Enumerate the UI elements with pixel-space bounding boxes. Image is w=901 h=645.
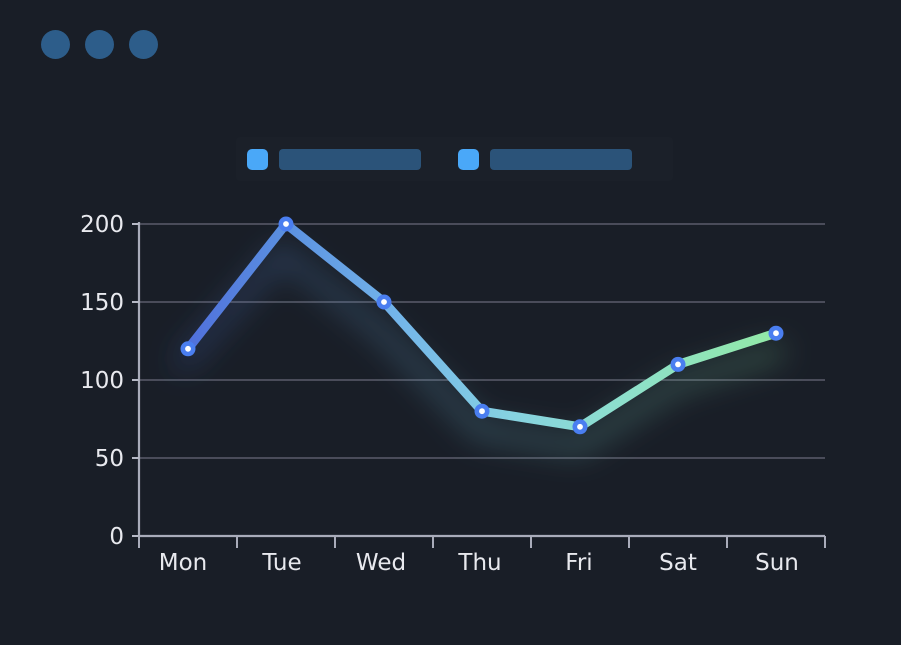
series-line-group <box>181 217 784 435</box>
y-axis-labels: 200 150 100 50 0 <box>80 212 124 550</box>
y-tick-label-100: 100 <box>80 368 124 394</box>
x-tick-label-mon: Mon <box>159 550 208 576</box>
line-chart: 200 150 100 50 0 Mon Tue Wed Thu Fri Sat… <box>0 0 901 645</box>
data-point-marker-center <box>381 299 387 305</box>
data-point-marker-center <box>185 346 191 352</box>
chart-axes <box>139 222 825 536</box>
x-tick-label-tue: Tue <box>261 550 301 576</box>
x-axis-labels: Mon Tue Wed Thu Fri Sat Sun <box>159 550 799 576</box>
y-tick-label-50: 50 <box>95 446 124 472</box>
x-tick-label-sat: Sat <box>659 550 697 576</box>
x-tick-label-sun: Sun <box>755 550 799 576</box>
app-window: 200 150 100 50 0 Mon Tue Wed Thu Fri Sat… <box>0 0 901 645</box>
x-tick-label-wed: Wed <box>356 550 406 576</box>
data-point-marker-center <box>283 221 289 227</box>
data-point-marker-center <box>577 424 583 430</box>
x-axis-ticks <box>139 536 825 548</box>
data-point-marker-center <box>675 362 681 368</box>
x-tick-label-fri: Fri <box>565 550 592 576</box>
data-point-marker-center <box>479 408 485 414</box>
x-tick-label-thu: Thu <box>457 550 501 576</box>
y-tick-label-0: 0 <box>109 524 124 550</box>
y-tick-label-150: 150 <box>80 290 124 316</box>
data-point-marker-center <box>773 330 779 336</box>
y-tick-label-200: 200 <box>80 212 124 238</box>
